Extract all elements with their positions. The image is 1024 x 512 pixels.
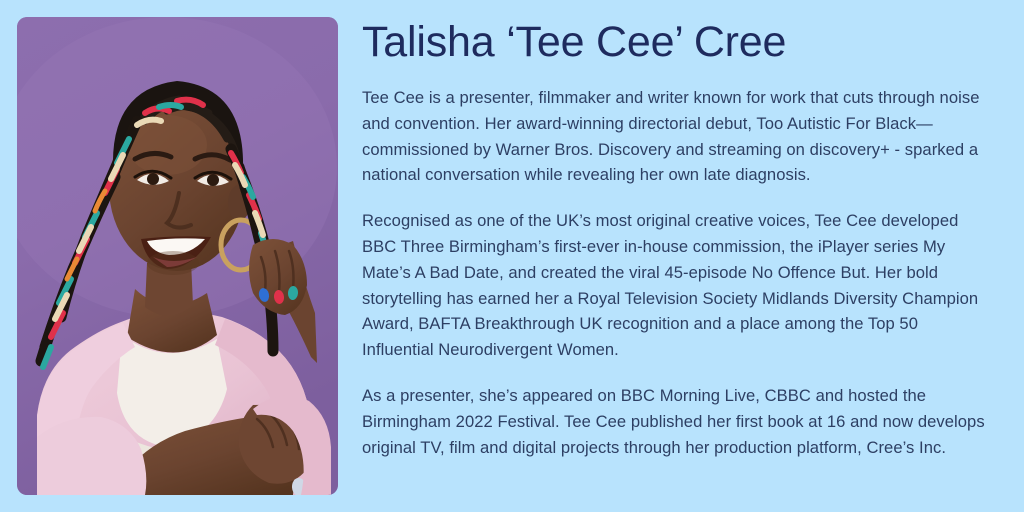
page-title: Talisha ‘Tee Cee’ Cree	[362, 16, 786, 68]
bio-paragraph-2: Recognised as one of the UK’s most origi…	[362, 208, 990, 363]
biography: Tee Cee is a presenter, filmmaker and wr…	[362, 85, 990, 460]
profile-photo	[17, 17, 338, 495]
bio-paragraph-1: Tee Cee is a presenter, filmmaker and wr…	[362, 85, 990, 188]
portrait-illustration	[17, 17, 338, 495]
bio-paragraph-3: As a presenter, she’s appeared on BBC Mo…	[362, 383, 990, 460]
profile-text-column: Talisha ‘Tee Cee’ Cree Tee Cee is a pres…	[362, 0, 990, 512]
profile-card: Talisha ‘Tee Cee’ Cree Tee Cee is a pres…	[0, 0, 1024, 512]
